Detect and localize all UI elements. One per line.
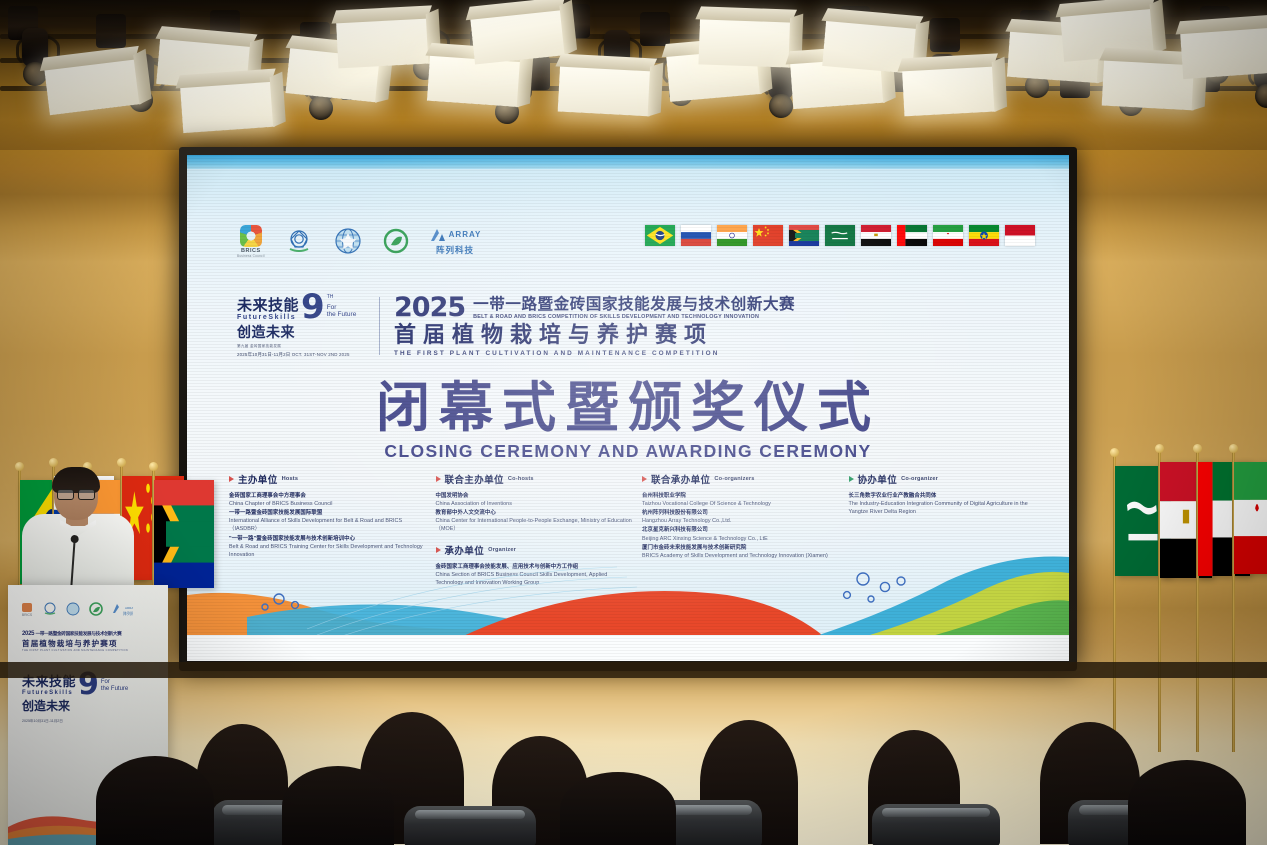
- credit-heading-cn: 协办单位: [858, 472, 898, 486]
- credit-entry-cn: 一带一路暨金砖国家技能发展国际联盟: [229, 509, 426, 517]
- main-title-cn: 闭幕式暨颁奖仪式: [187, 381, 1069, 435]
- audience-head: [560, 772, 676, 845]
- event-cn-subtitle: 首届植物栽培与养护赛项: [394, 323, 1029, 347]
- credit-entry-en: China Center for International People-to…: [436, 517, 633, 533]
- podium-cn-title: 一带一路暨金砖国家技能发展与技术创新大赛: [36, 631, 122, 636]
- atom-alliance-logo: [284, 224, 314, 258]
- stage-light-fixture: [640, 12, 670, 46]
- brics-logo-sublabel: Business Council: [237, 254, 265, 258]
- futureskills-en: FutureSkills: [237, 314, 299, 321]
- credit-entry: 杭州阵列科技股份有限公司 Hangzhou Array Technology C…: [642, 509, 839, 525]
- svg-text:BRICS: BRICS: [22, 613, 33, 617]
- credit-entry: 一带一路暨金砖国家技能发展国际联盟 International Alliance…: [229, 509, 426, 533]
- flag-south-africa: [789, 225, 819, 246]
- led-panel-light: [470, 9, 566, 64]
- green-leaf-logo: [382, 224, 410, 258]
- svg-text:ARRAY: ARRAY: [125, 606, 133, 610]
- credit-heading-en: Co-organizers: [714, 476, 754, 482]
- credit-entry: 北京星克新兴科技有限公司 Beijing ARC Xinxing Science…: [642, 526, 839, 542]
- futureskills-cn-1: 未来技能: [237, 298, 299, 313]
- led-screen-bezel: BRICS Business Council: [179, 147, 1077, 671]
- audience-head: [96, 756, 214, 845]
- brics-pentagon-icon: [240, 225, 262, 247]
- nation-flags-strip: [645, 225, 1035, 246]
- triangle-bullet-icon: [436, 476, 441, 482]
- eyeglasses-icon: [57, 489, 95, 498]
- flag-india: [717, 225, 747, 246]
- credit-entry-en: Hangzhou Array Technology Co.,Ltd.: [642, 517, 839, 525]
- podium-year: 2025: [22, 631, 34, 637]
- flagpole-iran: [1232, 452, 1267, 752]
- led-panel-light: [336, 18, 430, 69]
- futureskills-sub: 第九届 金砖国家技能发展: [237, 344, 365, 349]
- svg-text:阵列科技: 阵列科技: [123, 610, 133, 616]
- wave-base: [187, 635, 1069, 661]
- presenter: [16, 470, 140, 600]
- triangle-bullet-icon: [642, 476, 647, 482]
- futureskills-numeral: 9: [301, 295, 325, 321]
- credit-entry-cn: 教育部中外人文交流中心: [436, 509, 633, 517]
- triangle-bullet-icon: [229, 476, 234, 482]
- globe-emblem-logo: [333, 224, 363, 258]
- header-divider: [379, 297, 380, 355]
- flag-saudi-arabia: [825, 225, 855, 246]
- credit-heading-cn: 联合主办单位: [445, 472, 504, 486]
- event-date: 2025年10月31日-11月2日 OCT. 31ST-NOV 2ND 2025: [237, 352, 365, 358]
- credit-heading: 主办单位 Hosts: [229, 472, 426, 486]
- event-header: 未来技能 FutureSkills 9 THForthe Future 创造未来…: [237, 295, 1029, 358]
- credit-entry-cn: 北京星克新兴科技有限公司: [642, 526, 839, 534]
- credit-entry: 教育部中外人文交流中心 China Center for Internation…: [436, 509, 633, 533]
- physical-flag-south-africa: [154, 480, 214, 588]
- credit-entry-en: The Industry-Education Integration Commu…: [849, 500, 1046, 516]
- array-logo-word-cn: 阵列科技: [436, 244, 474, 256]
- credit-entry-cn: 长三角数字农业行业产教融合共同体: [849, 492, 1046, 500]
- futureskills-tagline: THForthe Future: [327, 295, 357, 321]
- credit-entry: 中国发明协会 China Association of Inventions: [436, 492, 633, 508]
- credit-entry: 长三角数字农业行业产教融合共同体 The Industry-Education …: [849, 492, 1046, 516]
- main-title-en: CLOSING CEREMONY AND AWARDING CEREMONY: [187, 441, 1069, 462]
- flag-china: [753, 225, 783, 246]
- event-en-title: BELT & ROAD AND BRICS COMPETITION OF SKI…: [473, 314, 795, 320]
- podium-fs-tagline: Forthe Future: [101, 679, 128, 696]
- array-technology-logo: ARRAY 阵列科技: [429, 224, 482, 258]
- podium-event-text: 2025 一带一路暨金砖国家技能发展与技术创新大赛 首届植物栽培与养护赛项 TH…: [22, 631, 160, 652]
- credit-entry-en: China Chapter of BRICS Business Council: [229, 500, 426, 508]
- credit-entry-cn: 台州科技职业学院: [642, 492, 839, 500]
- flag-russia: [681, 225, 711, 246]
- credit-heading-en: Co-hosts: [508, 476, 534, 482]
- audience-chair: [872, 804, 1000, 845]
- podium-fs-cn2: 创造未来: [22, 697, 128, 714]
- triangle-bullet-icon: [849, 476, 854, 482]
- physical-flag-iran: [1234, 462, 1267, 574]
- flag-brazil: [645, 225, 675, 246]
- credit-entry: 台州科技职业学院 Taizhou Vocational College Of S…: [642, 492, 839, 508]
- led-panel-light: [180, 81, 275, 133]
- credit-entry-cn: "一带一路"暨金砖国家技能发展与技术创新培训中心: [229, 535, 426, 543]
- event-cn-title: 一带一路暨金砖国家技能发展与技术创新大赛: [473, 296, 795, 313]
- sponsor-logo-row: BRICS Business Council: [237, 224, 481, 258]
- main-title: 闭幕式暨颁奖仪式 CLOSING CEREMONY AND AWARDING C…: [187, 381, 1069, 462]
- credit-heading: 协办单位 Co-organizer: [849, 472, 1046, 486]
- led-panel-light: [698, 18, 792, 67]
- flag-uae: [897, 225, 927, 246]
- credit-heading-en: Co-organizer: [901, 476, 938, 482]
- podium-logo-row: BRICS ARRAY阵列科技: [19, 601, 133, 617]
- credit-heading: 联合承办单位 Co-organizers: [642, 472, 839, 486]
- futureskills-logo: 未来技能 FutureSkills 9 THForthe Future 创造未来…: [237, 295, 365, 358]
- podium-fs-en: FutureSkills: [22, 690, 76, 696]
- audience-head: [1128, 760, 1246, 845]
- futureskills-ordinal: TH: [327, 294, 334, 300]
- stage-light-fixture: [930, 18, 960, 52]
- event-title-block: 2025 一带一路暨金砖国家技能发展与技术创新大赛 BELT & ROAD AN…: [394, 296, 1029, 356]
- podium-futureskills-logo: 未来技能 FutureSkills 9 Forthe Future 创造未来 2…: [22, 671, 128, 724]
- screen-content: BRICS Business Council: [187, 169, 1069, 661]
- led-panel-light: [902, 66, 996, 117]
- credit-entry-en: Taizhou Vocational College Of Science & …: [642, 500, 839, 508]
- flag-egypt: [861, 225, 891, 246]
- audience-head: [282, 766, 394, 845]
- array-logo-word: ARRAY: [449, 230, 482, 239]
- podium-date: 2025年10月31日-11月2日: [22, 719, 128, 724]
- auditorium-scene: BRICS Business Council: [0, 0, 1267, 845]
- credit-entry-cn: 杭州阵列科技股份有限公司: [642, 509, 839, 517]
- podium-en-subtitle: THE FIRST PLANT CULTIVATION AND MAINTENA…: [22, 649, 160, 652]
- decorative-waves: [187, 543, 1069, 661]
- credit-heading: 联合主办单位 Co-hosts: [436, 472, 633, 486]
- led-panel-light: [1180, 27, 1267, 79]
- stage-front-edge: [0, 662, 1267, 678]
- audience-chair: [404, 806, 536, 845]
- led-screen: BRICS Business Council: [187, 155, 1069, 661]
- brics-business-council-logo: BRICS Business Council: [237, 224, 265, 258]
- event-year: 2025: [394, 296, 465, 320]
- credit-entry-en: Beijing ARC Xinxing Science & Technology…: [642, 535, 839, 543]
- credit-entry: 金砖国家工商理事会中方理事会 China Chapter of BRICS Bu…: [229, 492, 426, 508]
- stage-light-fixture: [96, 14, 126, 48]
- credit-entry-en: China Association of Inventions: [436, 500, 633, 508]
- flag-indonesia: [1005, 225, 1035, 246]
- credit-entry-cn: 金砖国家工商理事会中方理事会: [229, 492, 426, 500]
- credit-heading-cn: 主办单位: [238, 472, 278, 486]
- flag-iran: [933, 225, 963, 246]
- credit-entry-cn: 中国发明协会: [436, 492, 633, 500]
- credit-heading-cn: 联合承办单位: [651, 472, 710, 486]
- credit-heading-en: Hosts: [282, 476, 299, 482]
- podium-cn-subtitle: 首届植物栽培与养护赛项: [22, 638, 160, 649]
- flag-ethiopia: [969, 225, 999, 246]
- credit-entry-en: International Alliance of Skills Develop…: [229, 517, 426, 533]
- led-panel-light: [558, 66, 652, 117]
- event-en-subtitle: THE FIRST PLANT CULTIVATION AND MAINTENA…: [394, 350, 1029, 357]
